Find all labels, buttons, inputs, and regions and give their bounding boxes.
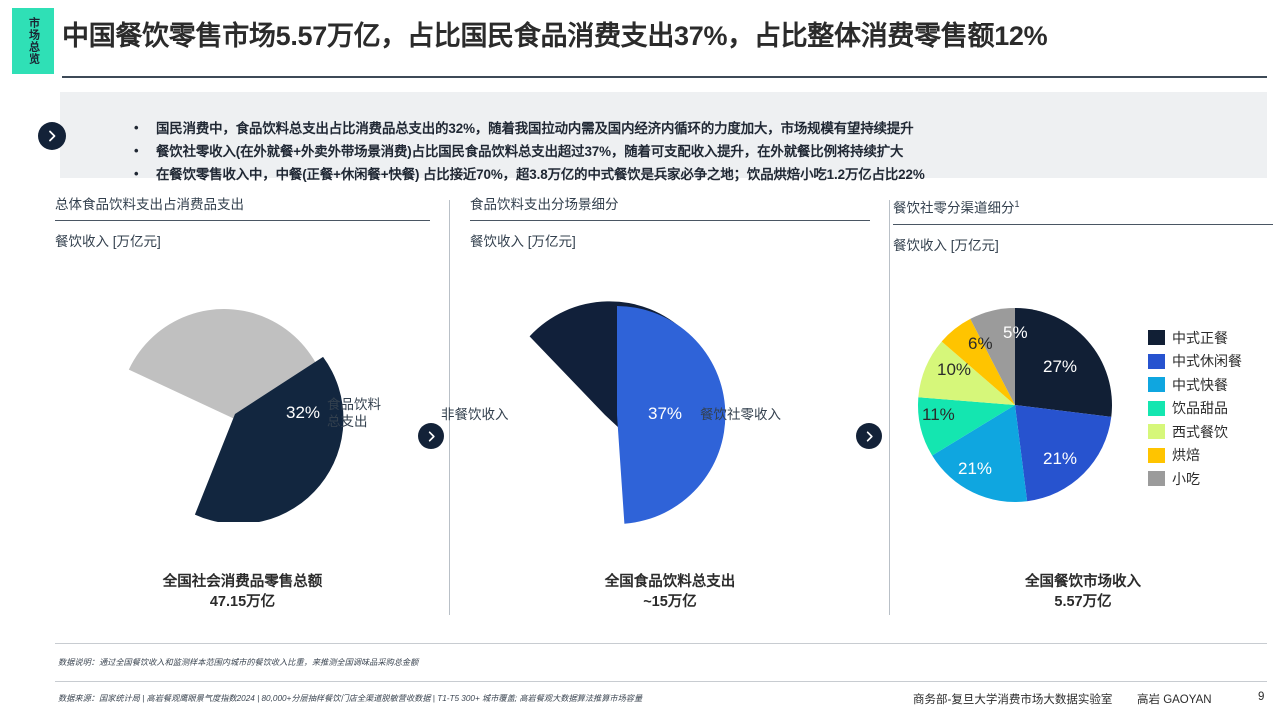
pie-1-slice-value: 32% [286,403,320,423]
legend-label: 中式快餐 [1172,375,1228,395]
legend-swatch-icon [1148,354,1165,369]
legend-item[interactable]: 小吃 [1148,467,1242,491]
pie-3-value-4: 10% [937,360,971,380]
legend-item[interactable]: 饮品甜品 [1148,397,1242,421]
pie-1-slice-label: 食品饮料 总支出 [327,396,381,430]
pie-chart-1: 32% 食品饮料 总支出 [117,307,417,527]
chart-3-unit: 餐饮收入 [万亿元] [893,234,1273,254]
chevron-right-icon [38,122,66,150]
footer-divider-top [55,643,1267,644]
panel-divider [889,200,890,615]
pie-3-value-0: 27% [1043,357,1077,377]
footer-source: 数据来源：国家统计局 | 高岩餐观鹰眼景气度指数2024 | 80,000+分层… [58,692,642,704]
pie-3-value-5: 6% [968,334,993,354]
slide-header: 市场总览 中国餐饮零售市场5.57万亿，占比国民食品消费支出37%，占比整体消费… [0,0,1280,82]
pie-2-slice-value-right: 37% [648,404,682,424]
legend-label: 中式休闲餐 [1172,351,1242,371]
legend-label: 饮品甜品 [1172,398,1228,418]
chart-2-caption: 全国食品饮料总支出 ~15万亿 [470,572,870,612]
chart-2-unit: 餐饮收入 [万亿元] [470,230,870,250]
legend-swatch-icon [1148,424,1165,439]
footer-lab-name: 商务部-复旦大学消费市场大数据实验室 [913,691,1112,707]
takeaways-list: 国民消费中，食品饮料总支出占比消费品总支出的32%，随着我国拉动内需及国内经济内… [90,117,1259,186]
legend-swatch-icon [1148,377,1165,392]
chevron-right-icon [418,423,444,449]
footer-divider-bottom [55,681,1267,682]
pie-3-value-3: 11% [922,405,955,425]
legend-swatch-icon [1148,330,1165,345]
chart-1-subtitle: 总体食品饮料支出占消费品支出 [55,196,430,221]
pie-chart-2: 63% 37% 非餐饮收入 餐饮社零收入 [487,300,747,535]
chart-1-caption: 全国社会消费品零售总额 47.15万亿 [55,572,430,612]
pie-chart-3: 27% 21% 21% 11% 10% 6% 5% [915,305,1115,510]
header-divider [62,76,1267,78]
chart-1-unit: 餐饮收入 [万亿元] [55,230,430,250]
page-number: 9 [1258,691,1264,703]
section-badge: 市场总览 [12,8,54,74]
pie-3-value-6: 5% [1003,323,1028,343]
legend-label: 烘焙 [1172,445,1200,465]
pie-3-value-2: 21% [958,459,992,479]
chart-3-subtitle: 餐饮社零分渠道细分1 [893,196,1273,225]
legend-label: 小吃 [1172,469,1200,489]
legend-label: 中式正餐 [1172,328,1228,348]
pie-3-value-1: 21% [1043,449,1077,469]
chevron-right-icon [856,423,882,449]
section-badge-label: 市场总览 [27,17,40,65]
pie-2-label-right: 餐饮社零收入 [700,406,781,423]
legend-label: 西式餐饮 [1172,422,1228,442]
legend-swatch-icon [1148,448,1165,463]
legend-swatch-icon [1148,401,1165,416]
list-item: 餐饮社零收入(在外就餐+外卖外带场景消费)占比国民食品饮料总支出超过37%，随着… [130,140,1259,163]
footer-author: 高岩 GAOYAN [1137,691,1212,707]
key-takeaways-box: 国民消费中，食品饮料总支出占比消费品总支出的32%，随着我国拉动内需及国内经济内… [60,92,1267,178]
legend-swatch-icon [1148,471,1165,486]
pie-2-slice-value-left: 63% [550,404,584,424]
chart-3-caption: 全国餐饮市场收入 5.57万亿 [893,572,1273,612]
legend-item[interactable]: 中式快餐 [1148,373,1242,397]
footer-note: 数据说明：通过全国餐饮收入和监测样本范围内城市的餐饮收入比重，来推测全国调味品采… [58,656,418,668]
list-item: 在餐饮零售收入中，中餐(正餐+休闲餐+快餐) 占比接近70%，超3.8万亿的中式… [130,163,1259,186]
page-title: 中国餐饮零售市场5.57万亿，占比国民食品消费支出37%，占比整体消费零售额12… [62,14,1272,53]
list-item: 国民消费中，食品饮料总支出占比消费品总支出的32%，随着我国拉动内需及国内经济内… [130,117,1259,140]
legend-item[interactable]: 西式餐饮 [1148,420,1242,444]
legend-item[interactable]: 中式正餐 [1148,326,1242,350]
chart-2-subtitle: 食品饮料支出分场景细分 [470,196,870,221]
legend-item[interactable]: 烘焙 [1148,444,1242,468]
pie-3-legend: 中式正餐 中式休闲餐 中式快餐 饮品甜品 西式餐饮 烘焙 小吃 [1148,326,1242,491]
legend-item[interactable]: 中式休闲餐 [1148,350,1242,374]
pie-2-label-left: 非餐饮收入 [441,406,509,423]
